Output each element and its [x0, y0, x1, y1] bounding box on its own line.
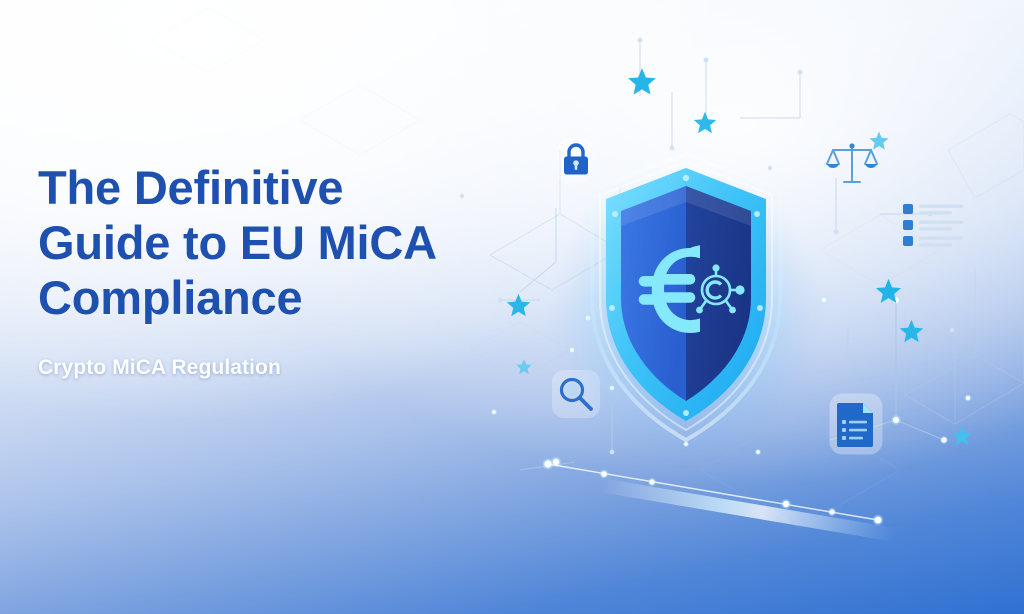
hero-text-block: The Definitive Guide to EU MiCA Complian… [38, 160, 508, 381]
page-subtitle: Crypto MiCA Regulation [38, 355, 508, 381]
star-icon [874, 277, 903, 311]
headline-line-1: The Definitive [38, 160, 508, 215]
security-shield [576, 148, 796, 448]
star-icon [950, 424, 974, 453]
headline-line-2: Guide to EU MiCA [38, 215, 508, 270]
mica-hero-banner: The Definitive Guide to EU MiCA Complian… [0, 0, 1024, 614]
checklist-icon [902, 202, 964, 253]
star-icon [898, 318, 925, 350]
page-title: The Definitive Guide to EU MiCA Complian… [38, 160, 508, 325]
headline-line-3: Compliance [38, 270, 508, 325]
